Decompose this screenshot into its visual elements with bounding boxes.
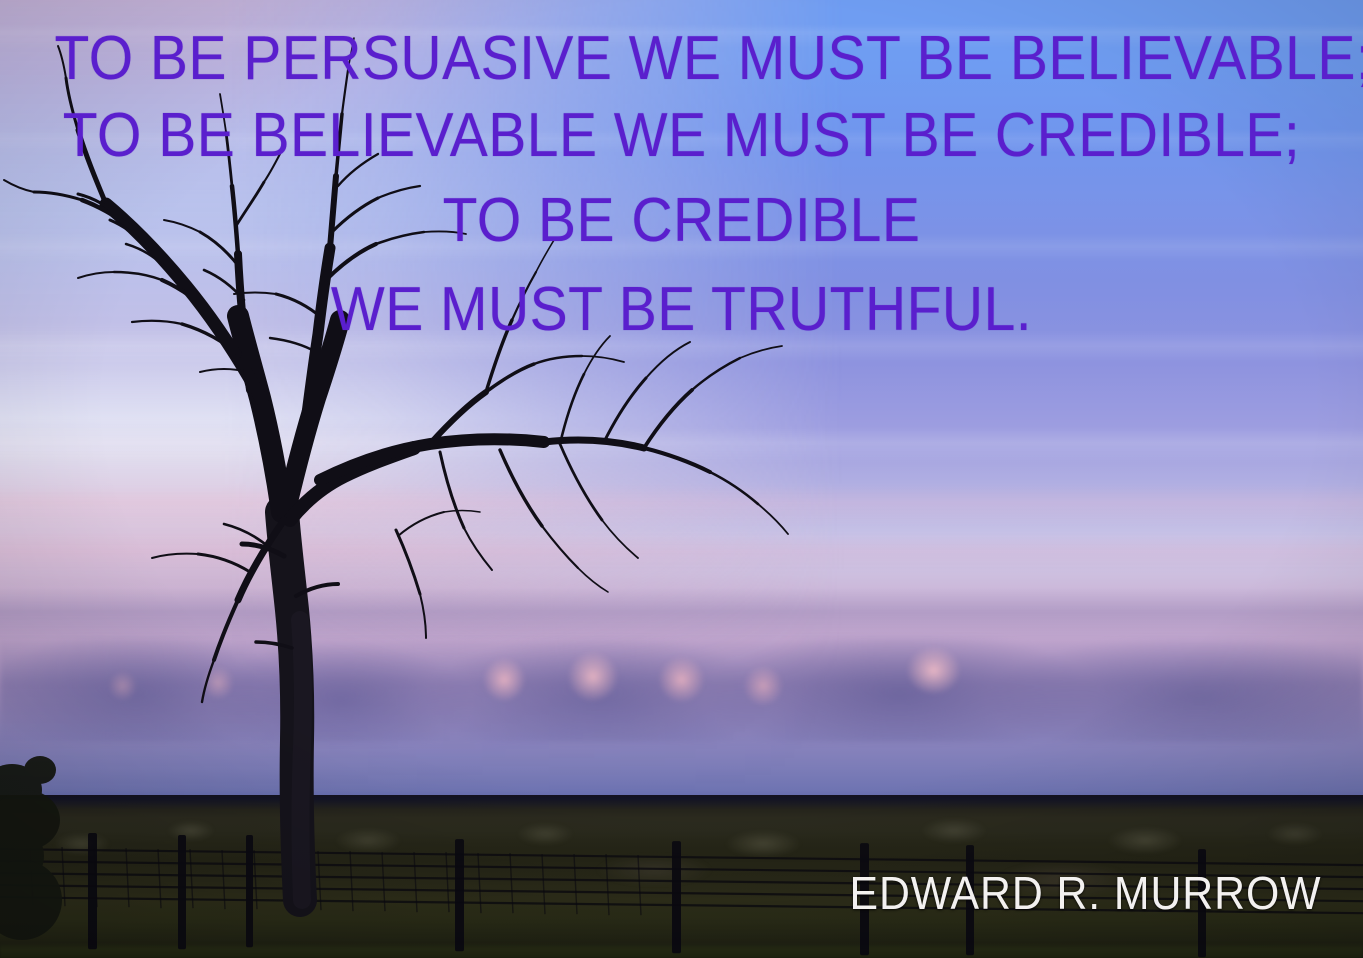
quote-image: TO BE PERSUASIVE WE MUST BE BELIEVABLE; … [0,0,1363,958]
attribution-author: EDWARD R. MURROW [849,866,1321,920]
left-edge-bush [0,0,1363,958]
